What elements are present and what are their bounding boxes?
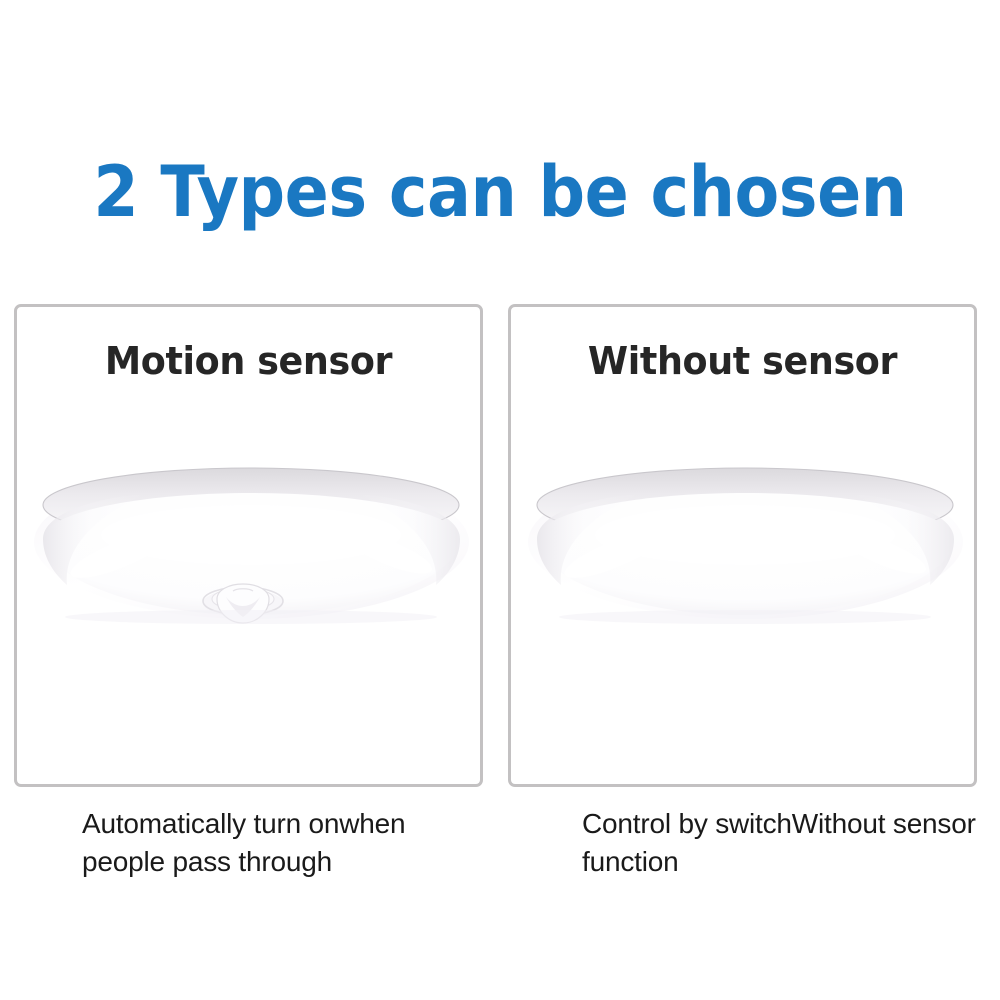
- lamp-highlight-center: [101, 505, 401, 565]
- card-without-sensor: Without sensor: [508, 304, 977, 787]
- page-title: 2 Types can be chosen: [35, 152, 965, 232]
- caption-motion-sensor: Automatically turn onwhen people pass th…: [82, 805, 482, 881]
- card-title-motion-sensor: Motion sensor: [26, 337, 470, 385]
- ceiling-lamp-illustration-with-sensor: [27, 447, 476, 647]
- lamp-highlight-center: [595, 505, 895, 565]
- card-title-without-sensor: Without sensor: [520, 337, 964, 385]
- ceiling-lamp-illustration-plain: [521, 447, 970, 647]
- product-image-without-sensor: [521, 447, 970, 647]
- product-image-motion-sensor: [27, 447, 476, 647]
- card-motion-sensor: Motion sensor: [14, 304, 483, 787]
- product-comparison-graphic: 2 Types can be chosen Motion sensor: [0, 0, 1000, 1000]
- caption-without-sensor: Control by switchWithout sensor function: [582, 805, 982, 881]
- lamp-bottom-shadow: [65, 610, 437, 624]
- lamp-bottom-shadow: [559, 610, 931, 624]
